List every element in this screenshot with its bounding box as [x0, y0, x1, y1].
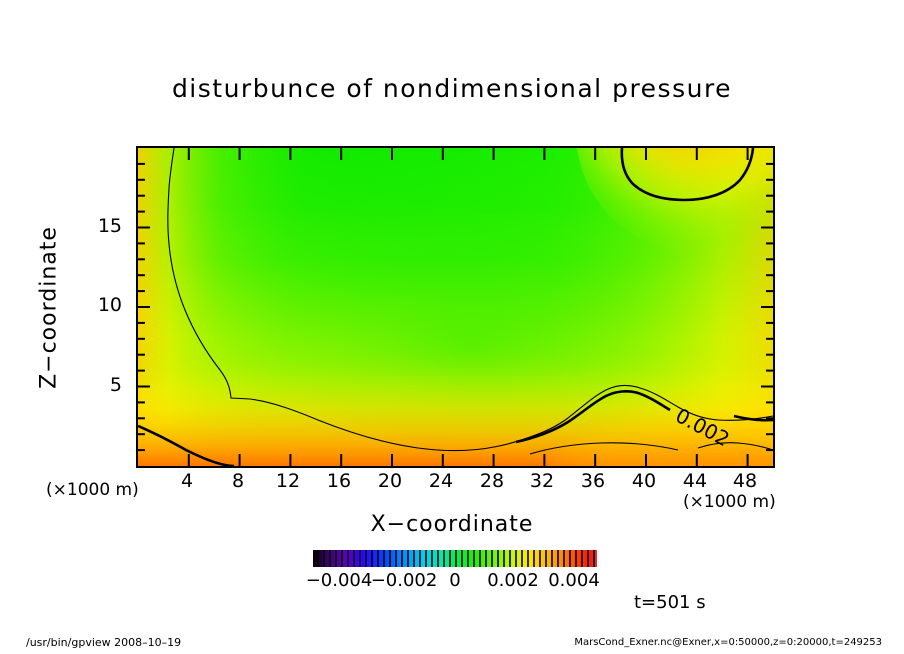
- y-tick-label: 10: [82, 294, 122, 316]
- x-tick-label: 28: [480, 470, 504, 492]
- colorbar: [313, 550, 597, 567]
- x-tick-label: 32: [530, 470, 554, 492]
- x-tick-label: 8: [232, 470, 244, 492]
- page-title: disturbunce of nondimensional pressure: [0, 74, 904, 103]
- colorbar-tick-label: 0.004: [548, 570, 600, 591]
- x-tick-label: 40: [632, 470, 656, 492]
- contour-plot-panel: 0.002: [136, 146, 775, 468]
- colorbar-tick-label: 0: [449, 570, 460, 591]
- x-tick-label: 4: [181, 470, 193, 492]
- colorbar-dividers: [318, 550, 594, 567]
- contour-field: 0.002: [138, 148, 773, 466]
- x-tick-label: 24: [429, 470, 453, 492]
- y-tick-label: 5: [82, 374, 122, 396]
- x-axis-units: (×1000 m): [683, 492, 776, 512]
- x-tick-label: 12: [276, 470, 300, 492]
- x-tick-label: 20: [378, 470, 402, 492]
- x-tick-label: 16: [327, 470, 351, 492]
- x-tick-label: 44: [683, 470, 707, 492]
- time-label: t=501 s: [634, 592, 706, 613]
- y-tick-label: 15: [82, 215, 122, 237]
- colorbar-gradient: [313, 550, 597, 567]
- y-axis-title: Z−coordinate: [37, 208, 62, 408]
- x-tick-label: 36: [581, 470, 605, 492]
- x-tick-label: 48: [733, 470, 757, 492]
- footer-datasource: MarsCond_Exner.nc@Exner,x=0:50000,z=0:20…: [574, 637, 882, 648]
- y-axis-units: (×1000 m): [46, 480, 139, 500]
- colorbar-tick-label: −0.004: [306, 570, 373, 591]
- x-axis-title: X−coordinate: [0, 512, 904, 537]
- footer-command: /usr/bin/gpview 2008–10–19: [26, 636, 181, 649]
- colorbar-tick-label: −0.002: [371, 570, 438, 591]
- colorbar-tick-label: 0.002: [487, 570, 539, 591]
